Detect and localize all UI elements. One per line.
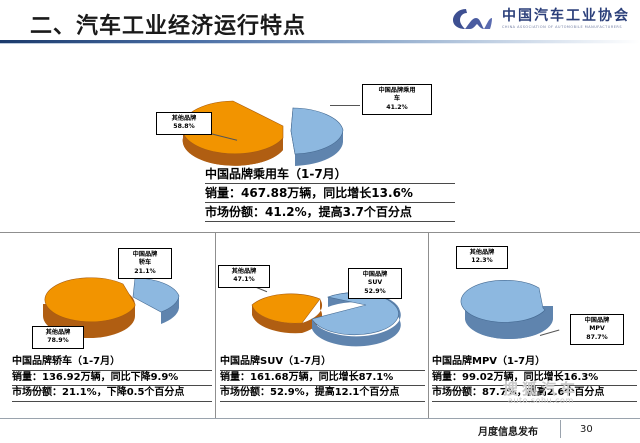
callout-label-name: 其他品牌: [470, 249, 495, 256]
callout-label-name: 其他品牌: [232, 268, 257, 275]
summary-line-1: 中国品牌SUV（1-7月）: [220, 355, 425, 371]
callout-label-pct: 21.1%: [134, 268, 155, 275]
cam-logo-icon: [450, 6, 496, 32]
slide-header: 二、汽车工业经济运行特点 中国汽车工业协会 CHINA ASSOCIATION …: [0, 0, 640, 44]
callout-other-brand-suv: 其他品牌 47.1%: [218, 265, 270, 288]
divider-vertical-left: [215, 232, 216, 418]
summary-line-2: 销量：161.68万辆，同比增长87.1%: [220, 371, 425, 387]
leader-line-cn-top: [330, 105, 360, 106]
slice-chinese-brand: [291, 108, 343, 166]
callout-label-name: 中国品牌乘用: [378, 87, 415, 94]
callout-label-name: 其他品牌: [172, 115, 197, 122]
callout-label-name2: 车: [394, 95, 400, 102]
footer-separator: [560, 420, 561, 438]
header-rule-secondary: [0, 43, 640, 44]
footer-page-number: 30: [580, 424, 593, 435]
callout-label-name: 其他品牌: [46, 329, 71, 336]
slice-chinese-brand: [312, 292, 401, 346]
summary-line-3: 市场份额：21.1%，下降0.5个百分点: [12, 386, 212, 402]
slice-other-brand: [252, 294, 322, 333]
summary-sedan: 中国品牌轿车（1-7月） 销量：136.92万辆，同比下降9.9% 市场份额：2…: [12, 355, 212, 402]
callout-label-pct: 12.3%: [471, 257, 492, 264]
callout-label-name2: SUV: [368, 279, 382, 286]
slice-chinese-brand: [461, 280, 553, 339]
callout-label-pct: 41.2%: [386, 104, 407, 111]
callout-label-pct: 58.8%: [173, 123, 194, 130]
summary-line-3: 市场份额：41.2%，提高3.7个百分点: [205, 203, 455, 222]
summary-line-3: 市场份额：52.9%，提高12.1个百分点: [220, 386, 425, 402]
watermark-url: auto.sohu.com: [508, 396, 574, 405]
callout-chinese-brand-sedan: 中国品牌 轿车 21.1%: [118, 248, 172, 279]
callout-other-brand-passenger: 其他品牌 58.8%: [156, 112, 212, 135]
callout-label-pct: 52.9%: [364, 288, 385, 295]
callout-other-brand-mpv: 其他品牌 12.3%: [456, 246, 508, 269]
callout-label-name2: 轿车: [139, 259, 151, 266]
callout-label-pct: 47.1%: [233, 276, 254, 283]
divider-horizontal: [0, 232, 640, 233]
callout-label-name: 中国品牌: [585, 317, 610, 324]
callout-label-name: 中国品牌: [363, 271, 388, 278]
logo-english-name: CHINA ASSOCIATION OF AUTOMOBILE MANUFACT…: [502, 25, 630, 29]
callout-chinese-brand-mpv: 中国品牌 MPV 87.7%: [570, 314, 624, 345]
callout-label-name: 中国品牌: [133, 251, 158, 258]
summary-suv: 中国品牌SUV（1-7月） 销量：161.68万辆，同比增长87.1% 市场份额…: [220, 355, 425, 402]
callout-label-name2: MPV: [589, 325, 604, 332]
footer-label: 月度信息发布: [478, 423, 538, 438]
summary-line-1: 中国品牌MPV（1-7月）: [432, 355, 637, 371]
summary-passenger-vehicle: 中国品牌乘用车（1-7月） 销量：467.88万辆，同比增长13.6% 市场份额…: [205, 165, 455, 222]
summary-line-1: 中国品牌轿车（1-7月）: [12, 355, 212, 371]
association-logo: 中国汽车工业协会 CHINA ASSOCIATION OF AUTOMOBILE…: [450, 6, 630, 32]
summary-line-1: 中国品牌乘用车（1-7月）: [205, 165, 455, 184]
summary-line-2: 销量：136.92万辆，同比下降9.9%: [12, 371, 212, 387]
footer-rule: [0, 418, 640, 419]
logo-chinese-name: 中国汽车工业协会: [502, 9, 630, 24]
summary-line-2: 销量：467.88万辆，同比增长13.6%: [205, 184, 455, 203]
slide-root: 二、汽车工业经济运行特点 中国汽车工业协会 CHINA ASSOCIATION …: [0, 0, 640, 443]
callout-label-pct: 78.9%: [47, 337, 68, 344]
divider-vertical-right: [428, 232, 429, 418]
page-title: 二、汽车工业经济运行特点: [30, 8, 306, 40]
slice-chinese-brand: [133, 278, 179, 324]
callout-chinese-brand-passenger: 中国品牌乘用 车 41.2%: [362, 84, 432, 115]
callout-label-pct: 87.7%: [586, 334, 607, 341]
callout-other-brand-sedan: 其他品牌 78.9%: [32, 326, 84, 349]
callout-chinese-brand-suv: 中国品牌 SUV 52.9%: [348, 268, 402, 299]
